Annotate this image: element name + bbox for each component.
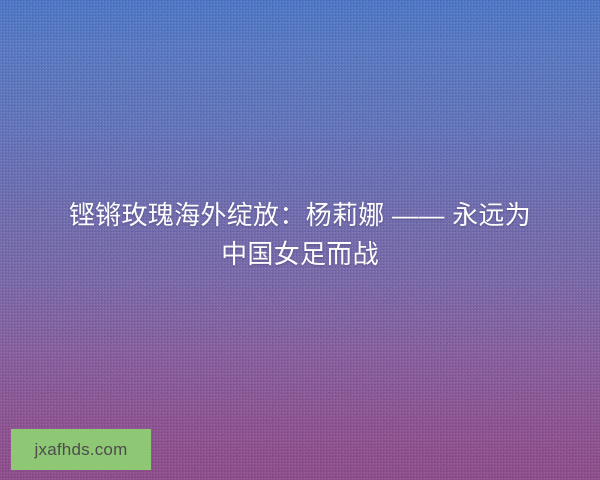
image-canvas: 铿锵玫瑰海外绽放：杨莉娜 —— 永远为 中国女足而战 jxafhds.com bbox=[0, 0, 600, 480]
watermark-badge: jxafhds.com bbox=[11, 429, 151, 470]
watermark-label: jxafhds.com bbox=[35, 441, 128, 458]
headline-text: 铿锵玫瑰海外绽放：杨莉娜 —— 永远为 中国女足而战 bbox=[0, 196, 600, 274]
